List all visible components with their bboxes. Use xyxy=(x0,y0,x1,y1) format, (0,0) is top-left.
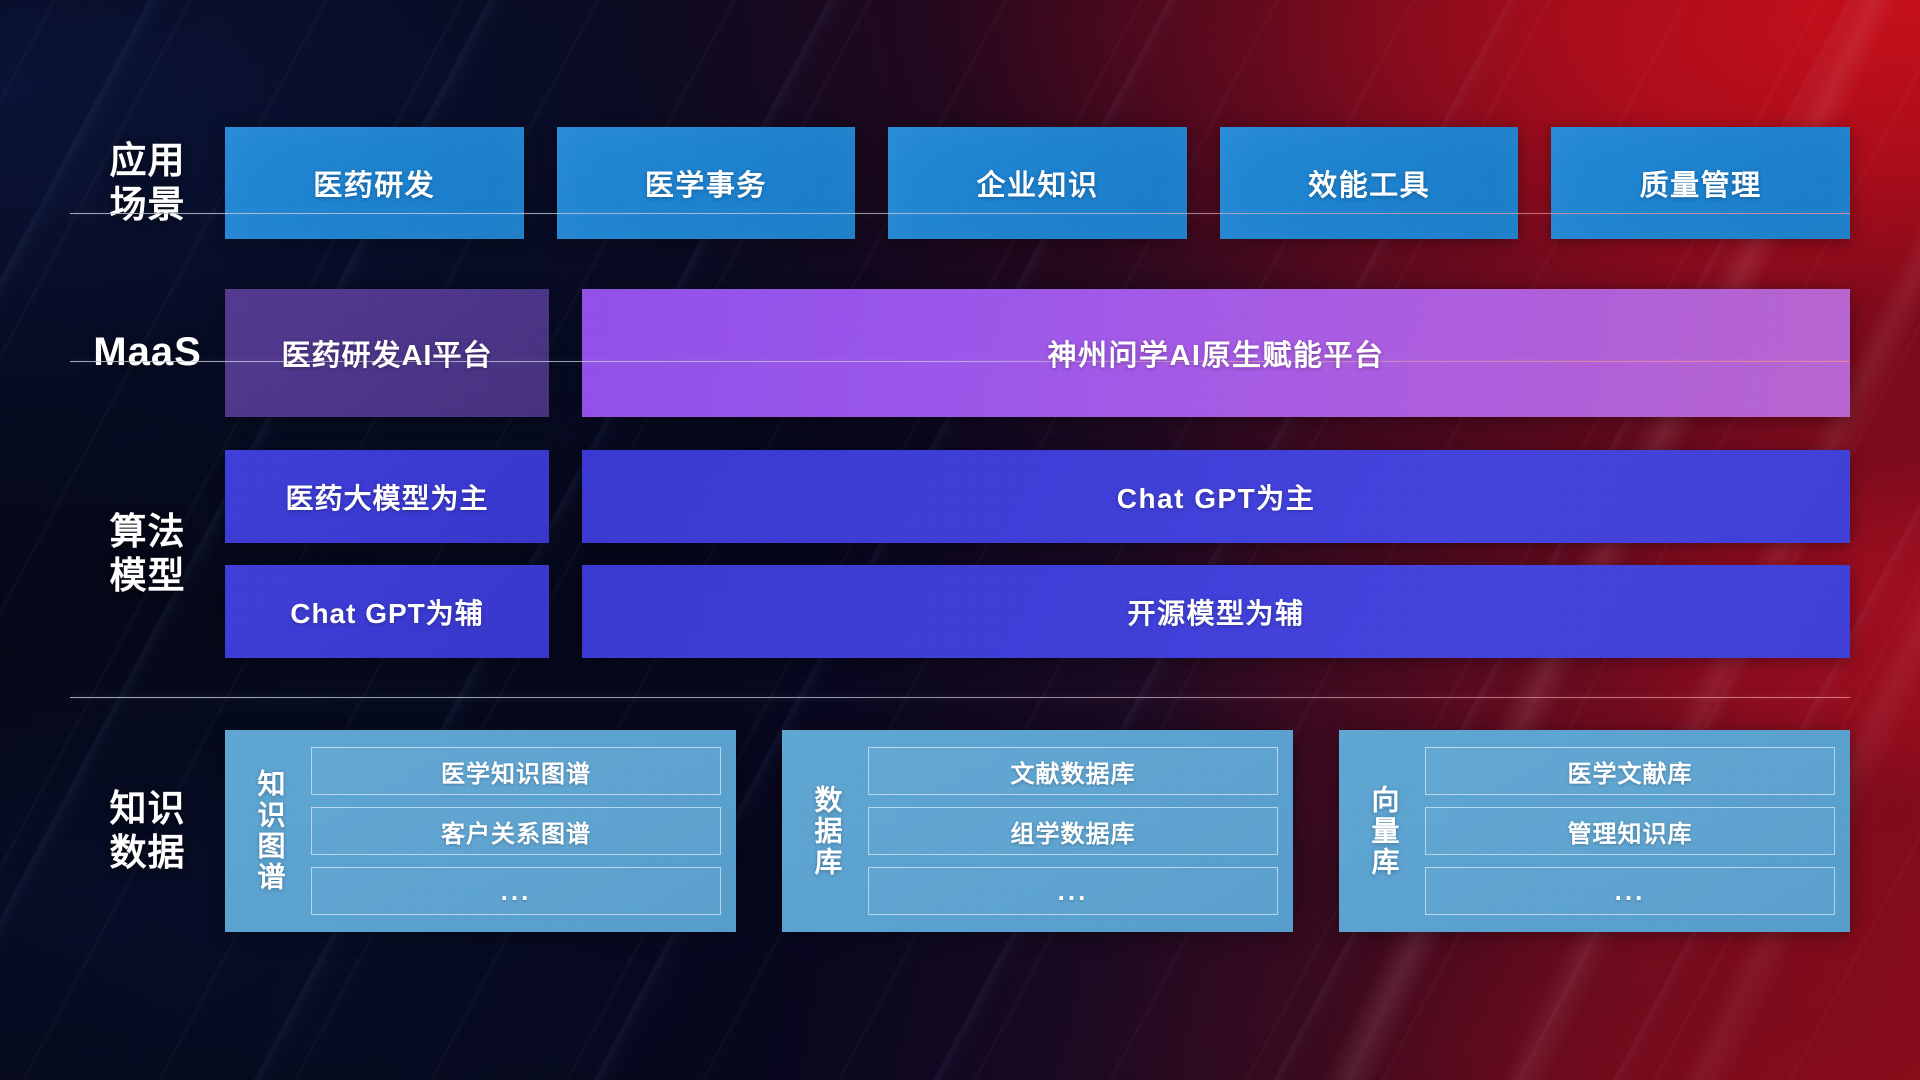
divider-algorithm-knowledge xyxy=(70,697,1850,698)
row-applications: 应用 场景 医药研发 医学事务 企业知识 效能工具 质量管理 xyxy=(70,127,1850,239)
row-algorithm-models: 算法 模型 医药大模型为主 Chat GPT为主 Chat GPT为辅 开源模型… xyxy=(70,450,1850,658)
maas-card-medicine-ai-platform[interactable]: 医药研发AI平台 xyxy=(225,289,549,417)
algorithm-card-chatgpt-secondary[interactable]: Chat GPT为辅 xyxy=(225,565,549,658)
algorithm-line-secondary: Chat GPT为辅 开源模型为辅 xyxy=(225,565,1850,658)
algorithm-card-label: 开源模型为辅 xyxy=(1127,592,1304,632)
application-card-label: 企业知识 xyxy=(976,162,1098,204)
knowledge-panel-title: 数据库 xyxy=(800,747,852,915)
algorithm-line-primary: 医药大模型为主 Chat GPT为主 xyxy=(225,450,1850,543)
algorithm-card-chatgpt-primary[interactable]: Chat GPT为主 xyxy=(582,450,1850,543)
knowledge-item-list: 文献数据库 组学数据库 ... xyxy=(868,747,1278,915)
algorithm-card-label: Chat GPT为主 xyxy=(1117,477,1316,517)
row-label-algorithm-models: 算法 模型 xyxy=(70,510,225,597)
row-label-maas: MaaS xyxy=(70,329,225,376)
application-card-label: 医药研发 xyxy=(313,162,435,204)
algorithm-card-list: 医药大模型为主 Chat GPT为主 Chat GPT为辅 开源模型为辅 xyxy=(225,450,1850,658)
application-card-list: 医药研发 医学事务 企业知识 效能工具 质量管理 xyxy=(225,127,1850,239)
application-card-label: 医学事务 xyxy=(645,162,767,204)
knowledge-item-omics-database[interactable]: 组学数据库 xyxy=(868,807,1278,855)
knowledge-item-list: 医学文献库 管理知识库 ... xyxy=(1425,747,1835,915)
knowledge-panel-vector-store[interactable]: 向量库 医学文献库 管理知识库 ... xyxy=(1339,730,1850,932)
algorithm-card-label: 医药大模型为主 xyxy=(285,477,488,517)
knowledge-item-medical-knowledge-graph[interactable]: 医学知识图谱 xyxy=(311,747,721,795)
knowledge-item-customer-relation-graph[interactable]: 客户关系图谱 xyxy=(311,807,721,855)
algorithm-card-medicine-large-model[interactable]: 医药大模型为主 xyxy=(225,450,549,543)
knowledge-item-medical-literature-store[interactable]: 医学文献库 xyxy=(1425,747,1835,795)
algorithm-card-open-source-secondary[interactable]: 开源模型为辅 xyxy=(582,565,1850,658)
maas-card-label: 医药研发AI平台 xyxy=(281,332,492,374)
application-card-label: 效能工具 xyxy=(1308,162,1430,204)
row-maas: MaaS 医药研发AI平台 神州问学AI原生赋能平台 xyxy=(70,289,1850,417)
application-card-quality-management[interactable]: 质量管理 xyxy=(1551,127,1850,239)
row-label-knowledge-data: 知识 数据 xyxy=(70,787,225,874)
algorithm-card-label: Chat GPT为辅 xyxy=(290,592,484,632)
maas-card-list: 医药研发AI平台 神州问学AI原生赋能平台 xyxy=(225,289,1850,417)
knowledge-item-more[interactable]: ... xyxy=(311,867,721,915)
maas-card-shenzhou-wenxue-platform[interactable]: 神州问学AI原生赋能平台 xyxy=(582,289,1850,417)
maas-card-label: 神州问学AI原生赋能平台 xyxy=(1047,332,1384,374)
knowledge-panel-database[interactable]: 数据库 文献数据库 组学数据库 ... xyxy=(782,730,1293,932)
application-card-medicine-rd[interactable]: 医药研发 xyxy=(225,127,524,239)
divider-applications-maas xyxy=(70,213,1850,214)
knowledge-panel-title: 知识图谱 xyxy=(243,747,295,915)
slide-canvas: 应用 场景 医药研发 医学事务 企业知识 效能工具 质量管理 xyxy=(0,0,1920,1080)
application-card-efficiency-tools[interactable]: 效能工具 xyxy=(1220,127,1519,239)
knowledge-item-management-knowledge-store[interactable]: 管理知识库 xyxy=(1425,807,1835,855)
application-card-label: 质量管理 xyxy=(1640,162,1762,204)
knowledge-item-list: 医学知识图谱 客户关系图谱 ... xyxy=(311,747,721,915)
knowledge-item-more[interactable]: ... xyxy=(1425,867,1835,915)
row-knowledge-data: 知识 数据 知识图谱 医学知识图谱 客户关系图谱 ... 数据库 文献数据库 组… xyxy=(70,730,1850,932)
architecture-diagram: 应用 场景 医药研发 医学事务 企业知识 效能工具 质量管理 xyxy=(0,0,1920,1080)
knowledge-panel-knowledge-graph[interactable]: 知识图谱 医学知识图谱 客户关系图谱 ... xyxy=(225,730,736,932)
knowledge-item-literature-database[interactable]: 文献数据库 xyxy=(868,747,1278,795)
application-card-medical-affairs[interactable]: 医学事务 xyxy=(557,127,856,239)
application-card-enterprise-knowledge[interactable]: 企业知识 xyxy=(888,127,1187,239)
knowledge-panel-title: 向量库 xyxy=(1357,747,1409,915)
knowledge-panel-list: 知识图谱 医学知识图谱 客户关系图谱 ... 数据库 文献数据库 组学数据库 .… xyxy=(225,730,1850,932)
knowledge-item-more[interactable]: ... xyxy=(868,867,1278,915)
